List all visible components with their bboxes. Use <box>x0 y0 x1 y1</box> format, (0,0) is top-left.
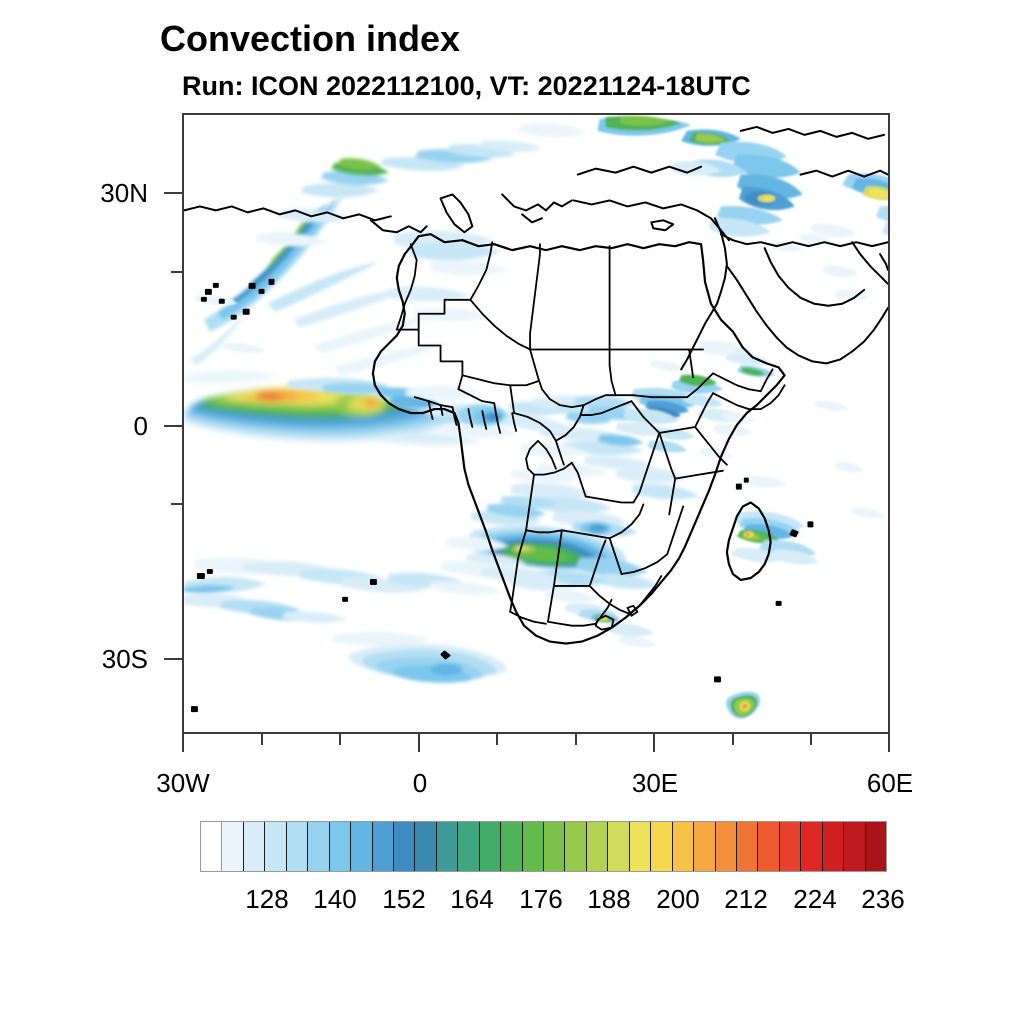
colorbar-cell-21 <box>651 822 672 871</box>
colorbar-cell-20 <box>630 822 651 871</box>
ytick-30S <box>164 658 182 660</box>
xtick-50E <box>810 734 812 745</box>
colorbar-cell-31 <box>866 822 886 871</box>
xtick-10W <box>339 734 341 745</box>
colorbar-cell-7 <box>351 822 372 871</box>
xtick-40E <box>732 734 734 745</box>
xtick-label-30E: 30E <box>610 768 700 799</box>
ytick-15S <box>171 503 182 505</box>
colorbar-cell-14 <box>501 822 522 871</box>
xtick-label-30W: 30W <box>138 768 228 799</box>
map-plot-area[interactable] <box>182 113 890 734</box>
colorbar-cell-28 <box>801 822 822 871</box>
colorbar-cell-29 <box>823 822 844 871</box>
colorbar-cell-15 <box>523 822 544 871</box>
colorbar-cell-19 <box>608 822 629 871</box>
colorbar-cell-16 <box>544 822 565 871</box>
ytick-label-30S: 30S <box>38 644 148 675</box>
colorbar-cell-24 <box>716 822 737 871</box>
colorbar-cell-1 <box>222 822 243 871</box>
colorbar-cell-17 <box>565 822 586 871</box>
colorbar-cell-27 <box>780 822 801 871</box>
colorbar-cell-2 <box>244 822 265 871</box>
xtick-30E <box>653 734 655 752</box>
xtick-10E <box>496 734 498 745</box>
colorbar-cell-12 <box>458 822 479 871</box>
colorbar-cell-8 <box>373 822 394 871</box>
colorbar-cell-3 <box>265 822 286 871</box>
colorbar-cell-23 <box>694 822 715 871</box>
xtick-0 <box>418 734 420 752</box>
colorbar-cell-18 <box>587 822 608 871</box>
ytick-0 <box>164 425 182 427</box>
xtick-60E <box>888 734 890 752</box>
colorbar-cell-4 <box>287 822 308 871</box>
xtick-label-0: 0 <box>375 768 465 799</box>
ytick-15N <box>171 271 182 273</box>
colorbar-cell-22 <box>673 822 694 871</box>
colorbar-label-236: 236 <box>838 884 928 915</box>
map-canvas <box>184 115 888 732</box>
page-title: Convection index <box>160 18 460 60</box>
colorbar-cell-9 <box>394 822 415 871</box>
xtick-label-60E: 60E <box>845 768 935 799</box>
colorbar-cell-11 <box>437 822 458 871</box>
colorbar-cell-5 <box>308 822 329 871</box>
xtick-20E <box>575 734 577 745</box>
run-validtime-subtitle: Run: ICON 2022112100, VT: 20221124-18UTC <box>182 71 751 102</box>
colorbar-cell-10 <box>415 822 436 871</box>
map-svg <box>184 115 888 732</box>
colorbar-cell-30 <box>844 822 865 871</box>
xtick-20W <box>261 734 263 745</box>
colorbar[interactable] <box>200 821 887 872</box>
ytick-label-0: 0 <box>38 411 148 442</box>
colorbar-cell-13 <box>480 822 501 871</box>
xtick-30W <box>182 734 184 752</box>
ytick-label-30N: 30N <box>38 178 148 209</box>
colorbar-cell-26 <box>758 822 779 871</box>
colorbar-cell-6 <box>330 822 351 871</box>
colorbar-cell-25 <box>737 822 758 871</box>
colorbar-cell-0 <box>201 822 222 871</box>
ytick-30N <box>164 192 182 194</box>
